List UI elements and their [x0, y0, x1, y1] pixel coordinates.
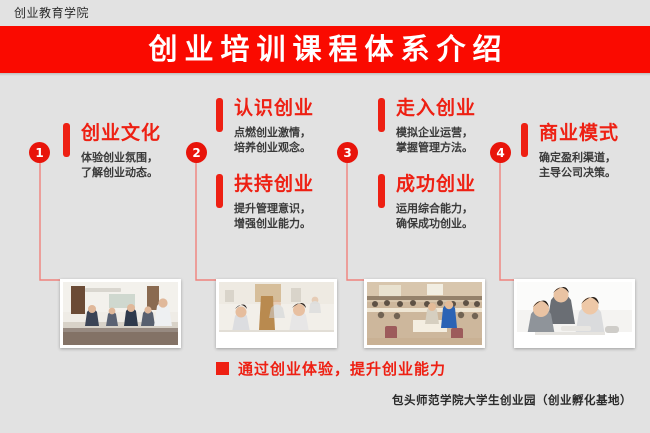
item-desc-line: 确保成功创业。 [396, 216, 476, 231]
item-desc-line: 体验创业氛围， [81, 150, 161, 165]
item-desc-line: 提升管理意识， [234, 201, 314, 216]
title-banner: 创业培训课程体系介绍 [0, 26, 650, 73]
item-block-2-1: 认识创业 点燃创业激情， 培养创业观念。 [216, 97, 314, 155]
item-block-2-2: 扶持创业 提升管理意识， 增强创业能力。 [216, 173, 314, 231]
section-number-2: 2 [186, 142, 207, 163]
photo-3 [364, 279, 485, 348]
item-desc-line: 确定盈利渠道， [539, 150, 619, 165]
photo-4 [514, 279, 635, 348]
item-block-4-1: 商业模式 确定盈利渠道， 主导公司决策。 [521, 122, 619, 180]
accent-bar-icon [378, 98, 385, 132]
summary-caption-text: 通过创业体验，提升创业能力 [238, 358, 446, 379]
footer-organization: 包头师范学院大学生创业园（创业孵化基地） [392, 392, 632, 408]
item-heading: 创业文化 [81, 122, 161, 144]
item-desc-line: 模拟企业运营， [396, 125, 476, 140]
item-desc-line: 主导公司决策。 [539, 165, 619, 180]
item-desc-line: 掌握管理方法。 [396, 140, 476, 155]
item-heading: 扶持创业 [234, 173, 314, 195]
banner-shadow [0, 73, 650, 76]
accent-bar-icon [216, 174, 223, 208]
institution-label: 创业教育学院 [14, 4, 89, 21]
photo-2 [216, 279, 337, 348]
item-desc-line: 培养创业观念。 [234, 140, 314, 155]
bullet-square-icon [216, 362, 229, 375]
item-block-3-2: 成功创业 运用综合能力， 确保成功创业。 [378, 173, 476, 231]
section-number-4: 4 [490, 142, 511, 163]
accent-bar-icon [521, 123, 528, 157]
item-block-1-1: 创业文化 体验创业氛围， 了解创业动态。 [63, 122, 161, 180]
summary-caption: 通过创业体验，提升创业能力 [216, 358, 446, 379]
banner-title: 创业培训课程体系介绍 [141, 35, 508, 64]
item-block-3-1: 走入创业 模拟企业运营， 掌握管理方法。 [378, 97, 476, 155]
item-desc-line: 了解创业动态。 [81, 165, 161, 180]
item-desc-line: 点燃创业激情， [234, 125, 314, 140]
item-heading: 认识创业 [234, 97, 314, 119]
item-desc-line: 运用综合能力， [396, 201, 476, 216]
photo-1 [60, 279, 181, 348]
item-desc-line: 增强创业能力。 [234, 216, 314, 231]
item-heading: 商业模式 [539, 122, 619, 144]
accent-bar-icon [216, 98, 223, 132]
section-number-3: 3 [337, 142, 358, 163]
item-heading: 走入创业 [396, 97, 476, 119]
accent-bar-icon [63, 123, 70, 157]
accent-bar-icon [378, 174, 385, 208]
item-heading: 成功创业 [396, 173, 476, 195]
poster-canvas: 创业教育学院 创业培训课程体系介绍 1 创业文化 体验创业氛围， 了解创业动态。… [0, 0, 650, 433]
section-number-1: 1 [29, 142, 50, 163]
